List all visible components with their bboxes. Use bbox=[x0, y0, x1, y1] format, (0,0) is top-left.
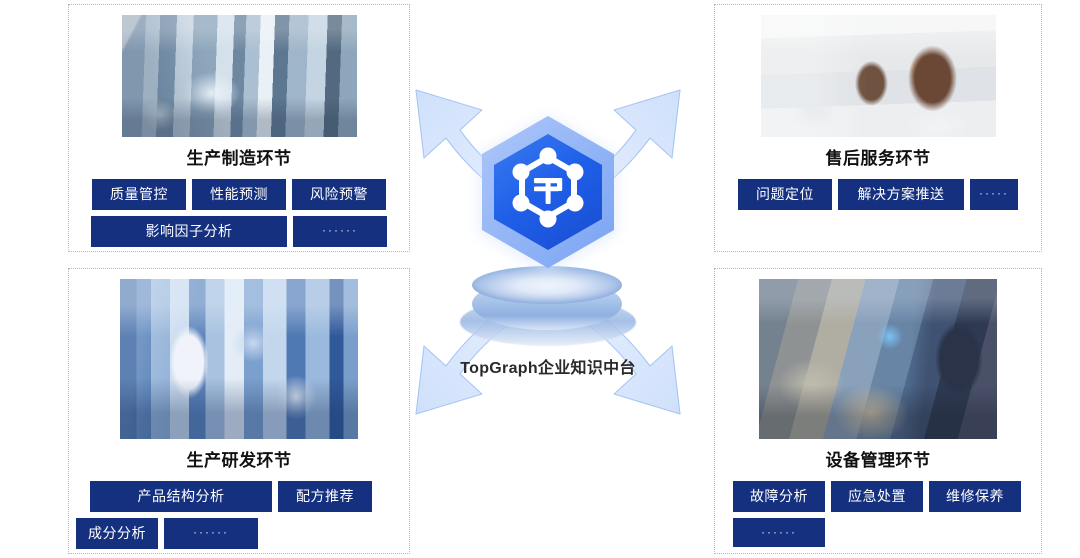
panel-equipment-management: 设备管理环节 故障分析 应急处置 维修保养 ······ bbox=[714, 268, 1042, 554]
tag-impact-factor-analysis[interactable]: 影响因子分析 bbox=[91, 216, 287, 247]
equipment-hud-robot-photo bbox=[759, 279, 997, 439]
panel-title-rd: 生产研发环节 bbox=[187, 446, 292, 471]
panel-production-rd: 生产研发环节 产品结构分析 配方推荐 成分分析 ······ bbox=[68, 268, 410, 554]
tag-performance-prediction[interactable]: 性能预测 bbox=[192, 179, 286, 210]
tag-more-rd[interactable]: ······ bbox=[164, 518, 258, 549]
call-center-agents-photo bbox=[761, 15, 996, 137]
tag-more-service[interactable]: ····· bbox=[970, 179, 1018, 210]
tag-more-equipment[interactable]: ······ bbox=[733, 518, 825, 547]
tag-more-manufacturing[interactable]: ······ bbox=[293, 216, 387, 247]
tag-list-rd: 产品结构分析 配方推荐 成分分析 ······ bbox=[76, 481, 402, 549]
panel-title-manufacturing: 生产制造环节 bbox=[187, 144, 292, 169]
tag-problem-location[interactable]: 问题定位 bbox=[738, 179, 832, 210]
tag-emergency-handling[interactable]: 应急处置 bbox=[831, 481, 923, 512]
tag-list-service: 问题定位 解决方案推送 ····· bbox=[729, 179, 1027, 210]
tag-fault-analysis[interactable]: 故障分析 bbox=[733, 481, 825, 512]
panel-title-equipment: 设备管理环节 bbox=[826, 446, 931, 471]
research-lab-cleanroom-photo bbox=[120, 279, 358, 439]
tag-product-structure-analysis[interactable]: 产品结构分析 bbox=[90, 481, 272, 512]
tag-risk-warning[interactable]: 风险预警 bbox=[292, 179, 386, 210]
tag-maintenance[interactable]: 维修保养 bbox=[929, 481, 1021, 512]
tag-list-equipment: 故障分析 应急处置 维修保养 ······ bbox=[725, 481, 1031, 547]
tag-composition-analysis[interactable]: 成分分析 bbox=[76, 518, 158, 549]
center-hub-label: TopGraph企业知识中台 bbox=[398, 354, 698, 378]
tag-solution-push[interactable]: 解决方案推送 bbox=[838, 179, 964, 210]
topgraph-hexagon-node-logo bbox=[466, 104, 630, 280]
panel-production-manufacturing: 生产制造环节 质量管控 性能预测 风险预警 影响因子分析 ······ bbox=[68, 4, 410, 252]
tag-formula-recommendation[interactable]: 配方推荐 bbox=[278, 481, 372, 512]
manufacturing-robot-photo bbox=[122, 15, 357, 137]
tag-list-manufacturing: 质量管控 性能预测 风险预警 影响因子分析 ······ bbox=[83, 179, 395, 247]
diagram-canvas: 生产制造环节 质量管控 性能预测 风险预警 影响因子分析 ······ 售后服务… bbox=[0, 0, 1080, 558]
tag-quality-control[interactable]: 质量管控 bbox=[92, 179, 186, 210]
panel-after-sales-service: 售后服务环节 问题定位 解决方案推送 ····· bbox=[714, 4, 1042, 252]
center-hub: TopGraph企业知识中台 bbox=[398, 52, 698, 452]
panel-title-service: 售后服务环节 bbox=[826, 144, 931, 169]
